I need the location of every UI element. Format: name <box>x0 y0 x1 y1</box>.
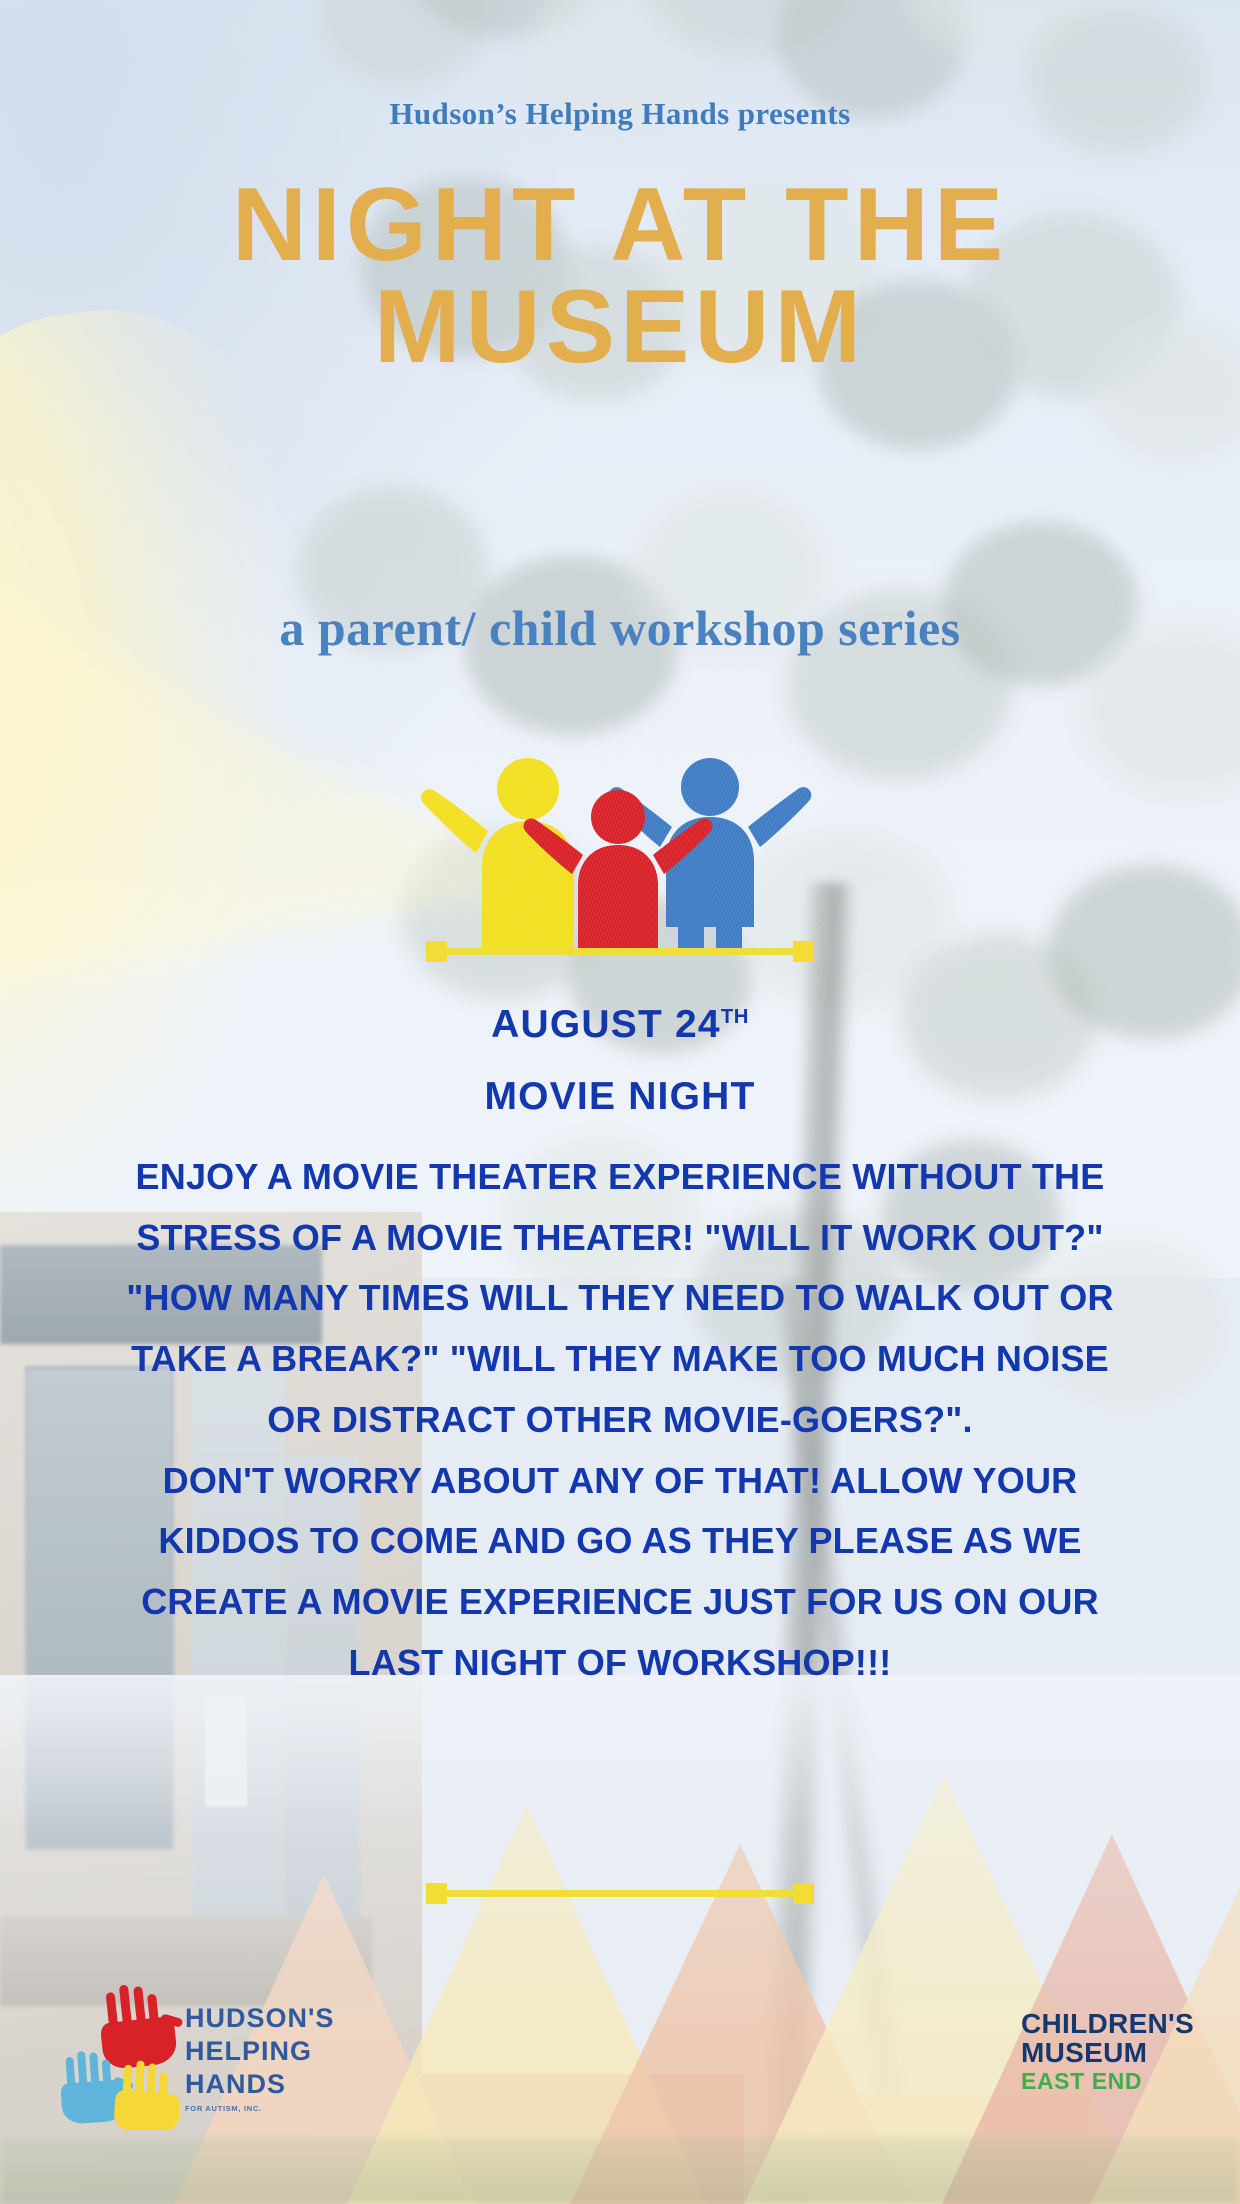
date-line: AUGUST 24TH <box>0 1005 1240 1044</box>
three-figures-graphic <box>0 745 1240 960</box>
poster-root: Hudson’s Helping Hands presents NIGHT AT… <box>0 0 1240 2204</box>
handprint-red-icon <box>96 1980 188 2070</box>
divider-bar <box>430 948 810 955</box>
logo-hudsons-helping-hands: HUDSON'S HELPING HANDS FOR AUTISM, INC. <box>55 1980 330 2150</box>
body-line: KIDDOS TO COME AND GO AS THEY PLEASE AS … <box>34 1514 1206 1569</box>
cme-line-1: CHILDREN'S <box>1021 2010 1194 2039</box>
poster-subtitle: a parent/ child workshop series <box>120 600 1120 656</box>
hhh-line-1: HUDSON'S <box>185 2002 335 2035</box>
date-text: AUGUST 24 <box>491 1003 721 1046</box>
crayon-texture <box>410 745 830 960</box>
handprints-icon <box>55 1980 205 2130</box>
hhh-line-2: HELPING <box>185 2035 335 2068</box>
body-line: LAST NIGHT OF WORKSHOP!!! <box>34 1636 1206 1691</box>
cme-line-2: MUSEUM <box>1021 2039 1194 2068</box>
logo-childrens-museum-east-end: CHILDREN'S MUSEUM EAST END <box>1021 2010 1194 2094</box>
body-copy: ENJOY A MOVIE THEATER EXPERIENCE WITHOUT… <box>34 1150 1206 1690</box>
date-ordinal: TH <box>721 1006 749 1028</box>
body-line: TAKE A BREAK?" "WILL THEY MAKE TOO MUCH … <box>34 1332 1206 1387</box>
divider-top <box>0 948 1240 955</box>
date-block: AUGUST 24TH MOVIE NIGHT <box>0 1005 1240 1116</box>
divider-bar <box>430 1890 810 1897</box>
poster-title: NIGHT AT THE MUSEUM <box>90 175 1150 379</box>
body-line: "HOW MANY TIMES WILL THEY NEED TO WALK O… <box>34 1271 1206 1326</box>
body-line: STRESS OF A MOVIE THEATER! "WILL IT WORK… <box>34 1211 1206 1266</box>
presenter-tagline: Hudson’s Helping Hands presents <box>0 96 1240 132</box>
hhh-tagline: FOR AUTISM, INC. <box>185 2104 335 2113</box>
divider-bottom <box>0 1890 1240 1897</box>
body-line: CREATE A MOVIE EXPERIENCE JUST FOR US ON… <box>34 1575 1206 1630</box>
body-line: DON'T WORRY ABOUT ANY OF THAT! ALLOW YOU… <box>34 1454 1206 1509</box>
hhh-wordmark: HUDSON'S HELPING HANDS FOR AUTISM, INC. <box>185 2002 335 2113</box>
event-name: MOVIE NIGHT <box>0 1077 1240 1116</box>
body-line: OR DISTRACT OTHER MOVIE-GOERS?". <box>34 1393 1206 1448</box>
hhh-line-3: HANDS <box>185 2068 335 2101</box>
poster-content: Hudson’s Helping Hands presents NIGHT AT… <box>0 0 1240 2204</box>
body-line: ENJOY A MOVIE THEATER EXPERIENCE WITHOUT… <box>34 1150 1206 1205</box>
cme-line-3: EAST END <box>1021 2069 1194 2094</box>
figures-svg <box>410 745 830 960</box>
handprint-yellow-icon <box>113 2059 183 2130</box>
